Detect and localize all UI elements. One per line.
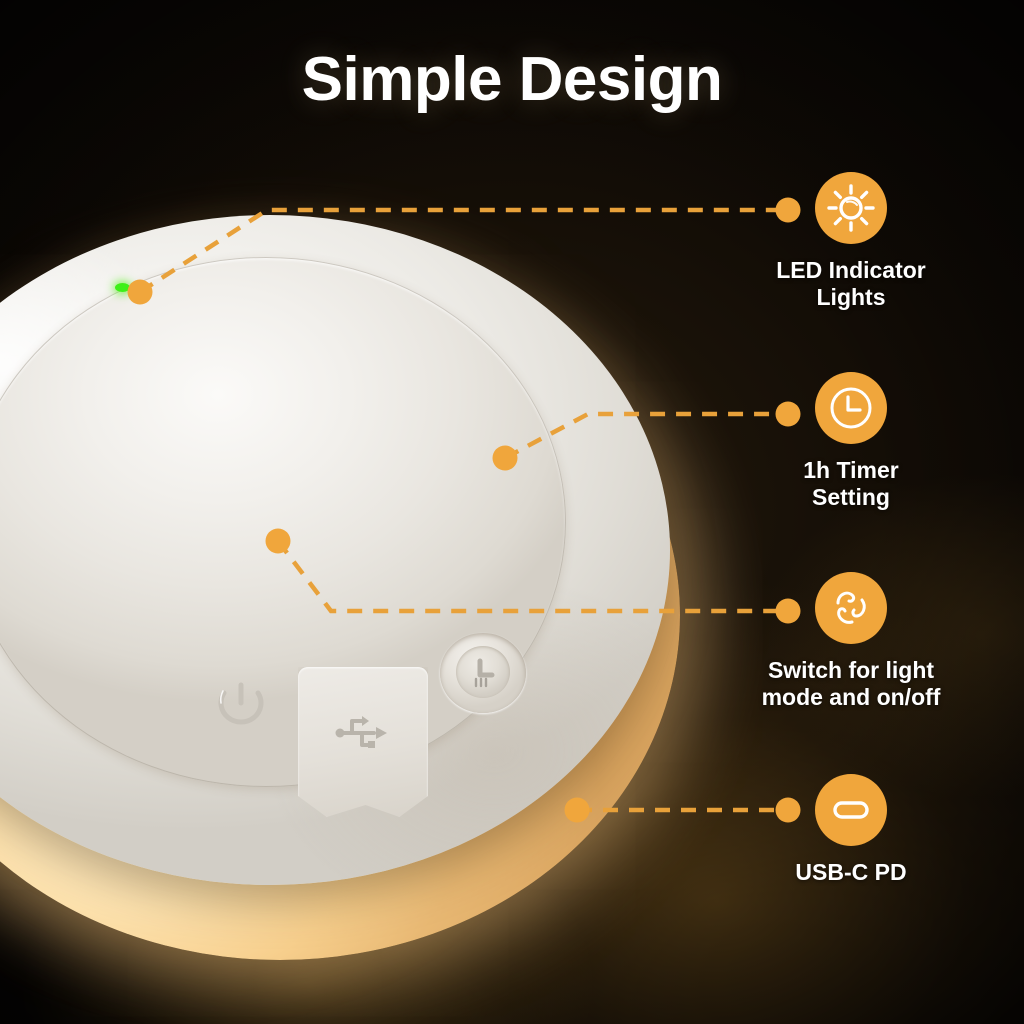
- feature-label-line2: mode and on/off: [714, 684, 988, 711]
- feature-label: 1h Timer Setting: [726, 457, 976, 511]
- clock-timer-icon: [826, 383, 876, 433]
- usb-c-port-icon: [826, 785, 876, 835]
- sun-brightness-icon: [826, 183, 876, 233]
- feature-label: USB-C PD: [726, 859, 976, 886]
- cycle-mode-icon: [826, 583, 876, 633]
- power-symbol-button[interactable]: [210, 677, 272, 733]
- feature-timer-setting: 1h Timer Setting: [726, 372, 976, 511]
- usb-trident-icon: [332, 707, 392, 755]
- infographic-canvas: Simple Design: [0, 0, 1024, 1024]
- green-status-led: [115, 283, 130, 292]
- page-title: Simple Design: [0, 44, 1024, 115]
- timer-clock-icon: [466, 655, 502, 689]
- feature-label-line2: Setting: [726, 484, 976, 511]
- feature-label-line1: 1h Timer: [726, 457, 976, 484]
- feature-icon-circle: [815, 172, 887, 244]
- feature-switch-light-mode: Switch for light mode and on/off: [714, 572, 988, 711]
- feature-label-line1: LED Indicator: [726, 257, 976, 284]
- feature-icon-circle: [815, 372, 887, 444]
- feature-icon-circle: [815, 572, 887, 644]
- feature-label-line1: Switch for light: [714, 657, 988, 684]
- product-lamp: [0, 215, 730, 955]
- feature-label: Switch for light mode and on/off: [714, 657, 988, 711]
- feature-label: LED Indicator Lights: [726, 257, 976, 311]
- feature-usb-c-pd: USB-C PD: [726, 774, 976, 886]
- feature-icon-circle: [815, 774, 887, 846]
- feature-label-line1: USB-C PD: [726, 859, 976, 886]
- feature-led-indicator-lights: LED Indicator Lights: [726, 172, 976, 311]
- feature-label-line2: Lights: [726, 284, 976, 311]
